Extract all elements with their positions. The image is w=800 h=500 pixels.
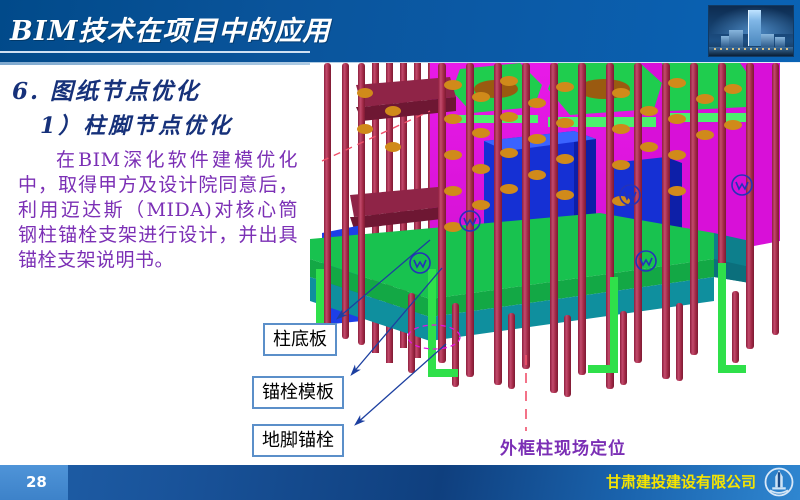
building-render-thumbnail — [708, 5, 794, 57]
body-paragraph: 在BIM深化软件建模优化中，取得甲方及设计院同意后，利用迈达斯（MIDA)对核心… — [18, 148, 298, 273]
callout-label-foundation-anchor: 地脚锚栓 — [252, 424, 344, 457]
title-underline-rule — [0, 51, 310, 53]
model-caption: 外框柱现场定位 — [500, 434, 626, 459]
thumbnail-building-midleft — [729, 30, 742, 47]
thumbnail-street-lights — [714, 48, 788, 50]
slide: BIM技术在项目中的应用 6. 图纸节点优化 1）柱脚节点优化 在BIM深化软件… — [0, 0, 800, 500]
company-name: 甘肃建投建设有限公司 — [606, 471, 756, 492]
thumbnail-building-right — [775, 37, 785, 47]
callout-label-anchor-formwork: 锚栓模板 — [252, 376, 344, 409]
page-title: BIM技术在项目中的应用 — [10, 9, 430, 47]
section-heading: 6. 图纸节点优化 — [12, 72, 200, 106]
thumbnail-main-tower — [748, 10, 761, 46]
thumbnail-building-midright — [761, 34, 774, 47]
company-tower-logo — [764, 467, 794, 497]
thumbnail-building-left — [721, 36, 729, 47]
callout-label-column-base-plate: 柱底板 — [263, 323, 337, 356]
slide-footer: 28 甘肃建投建设有限公司 — [0, 465, 800, 500]
bim-model-image — [310, 63, 800, 463]
bim-model-svg — [310, 63, 800, 463]
subsection-heading: 1）柱脚节点优化 — [40, 108, 233, 140]
page-number: 28 — [26, 473, 47, 491]
